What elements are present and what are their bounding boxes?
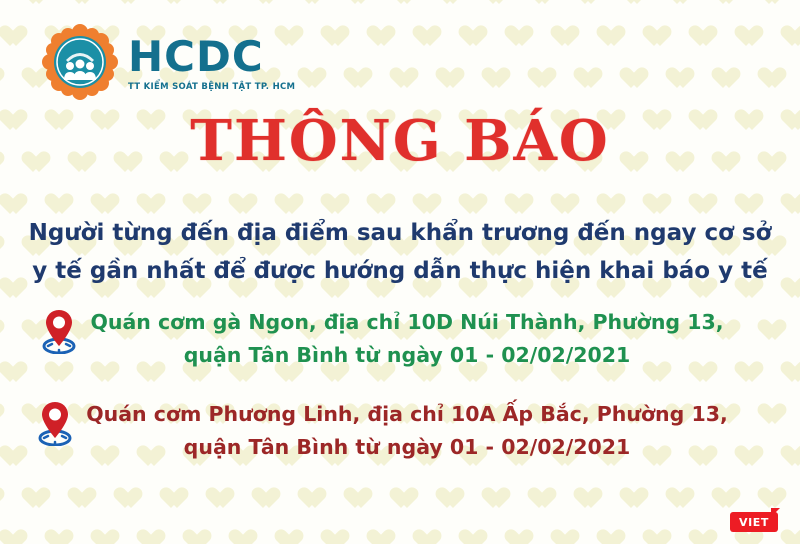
lead-line-2: y tế gần nhất để được hướng dẫn thực hiệ… [0, 252, 800, 290]
poster-title: THÔNG BÁO [0, 108, 800, 174]
location-line-1: Quán cơm Phương Linh, địa chỉ 10A Ấp Bắc… [86, 398, 728, 431]
viet-watermark: VIET [730, 508, 786, 532]
list-item: Quán cơm Phương Linh, địa chỉ 10A Ấp Bắc… [0, 398, 800, 464]
list-item: Quán cơm gà Ngon, địa chỉ 10D Núi Thành,… [0, 306, 800, 372]
hcdc-logo: HCDC TT KIỂM SOÁT BỆNH TẬT TP. HCM [42, 24, 295, 100]
location-line-2: quận Tân Bình từ ngày 01 - 02/02/2021 [86, 431, 728, 464]
viet-badge-box: VIET [730, 512, 778, 532]
notice-poster: HCDC TT KIỂM SOÁT BỆNH TẬT TP. HCM THÔNG… [0, 0, 800, 544]
brand-subtitle: TT KIỂM SOÁT BỆNH TẬT TP. HCM [128, 83, 295, 92]
lead-paragraph: Người từng đến địa điểm sau khẩn trương … [0, 214, 800, 290]
viet-label: VIET [739, 516, 769, 529]
location-list: Quán cơm gà Ngon, địa chỉ 10D Núi Thành,… [0, 306, 800, 490]
map-pin-icon [42, 308, 76, 354]
location-line-1: Quán cơm gà Ngon, địa chỉ 10D Núi Thành,… [90, 306, 723, 339]
location-line-2: quận Tân Bình từ ngày 01 - 02/02/2021 [90, 339, 723, 372]
map-pin-icon [38, 400, 72, 446]
hcdc-logo-icon [42, 24, 118, 100]
lead-line-1: Người từng đến địa điểm sau khẩn trương … [0, 214, 800, 252]
brand-name: HCDC [128, 36, 295, 78]
